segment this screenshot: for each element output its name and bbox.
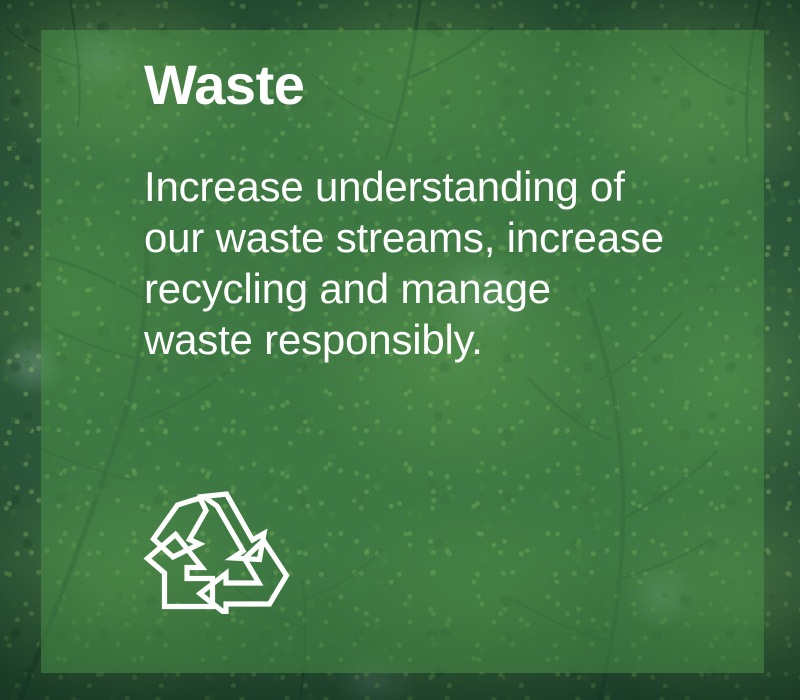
- card-description: Increase understanding of our waste stre…: [144, 161, 664, 365]
- waste-info-card: Waste Increase understanding of our wast…: [0, 0, 800, 700]
- page-title: Waste: [144, 56, 304, 114]
- recycling-icon: [140, 488, 292, 614]
